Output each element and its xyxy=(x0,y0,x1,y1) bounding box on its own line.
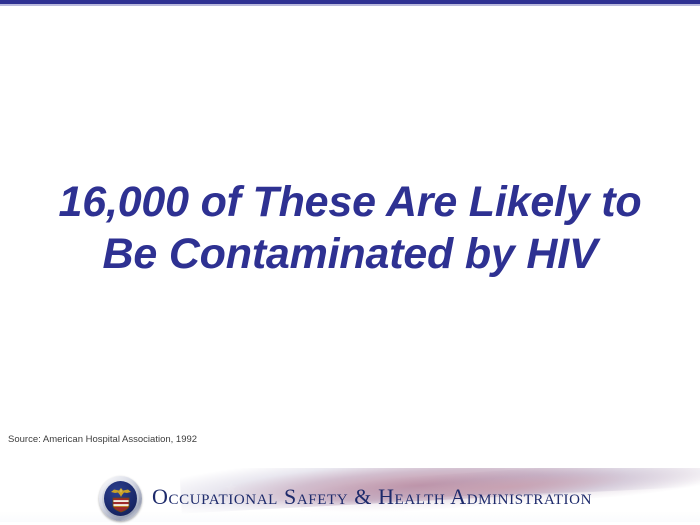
title-line-1: 16,000 of These Are Likely to xyxy=(18,176,682,228)
organization-wordmark: Occupational Safety & Health Administrat… xyxy=(152,484,592,510)
shield-icon xyxy=(112,497,130,513)
top-border-highlight xyxy=(0,4,700,6)
osha-seal-icon xyxy=(99,476,142,521)
page-title: 16,000 of These Are Likely to Be Contami… xyxy=(18,176,682,280)
title-line-2: Be Contaminated by HIV xyxy=(18,228,682,280)
star-icon: ★ xyxy=(16,470,43,496)
source-citation: Source: American Hospital Association, 1… xyxy=(8,434,197,446)
seal-face xyxy=(104,481,137,516)
slide: 16,000 of These Are Likely to Be Contami… xyxy=(0,0,700,525)
